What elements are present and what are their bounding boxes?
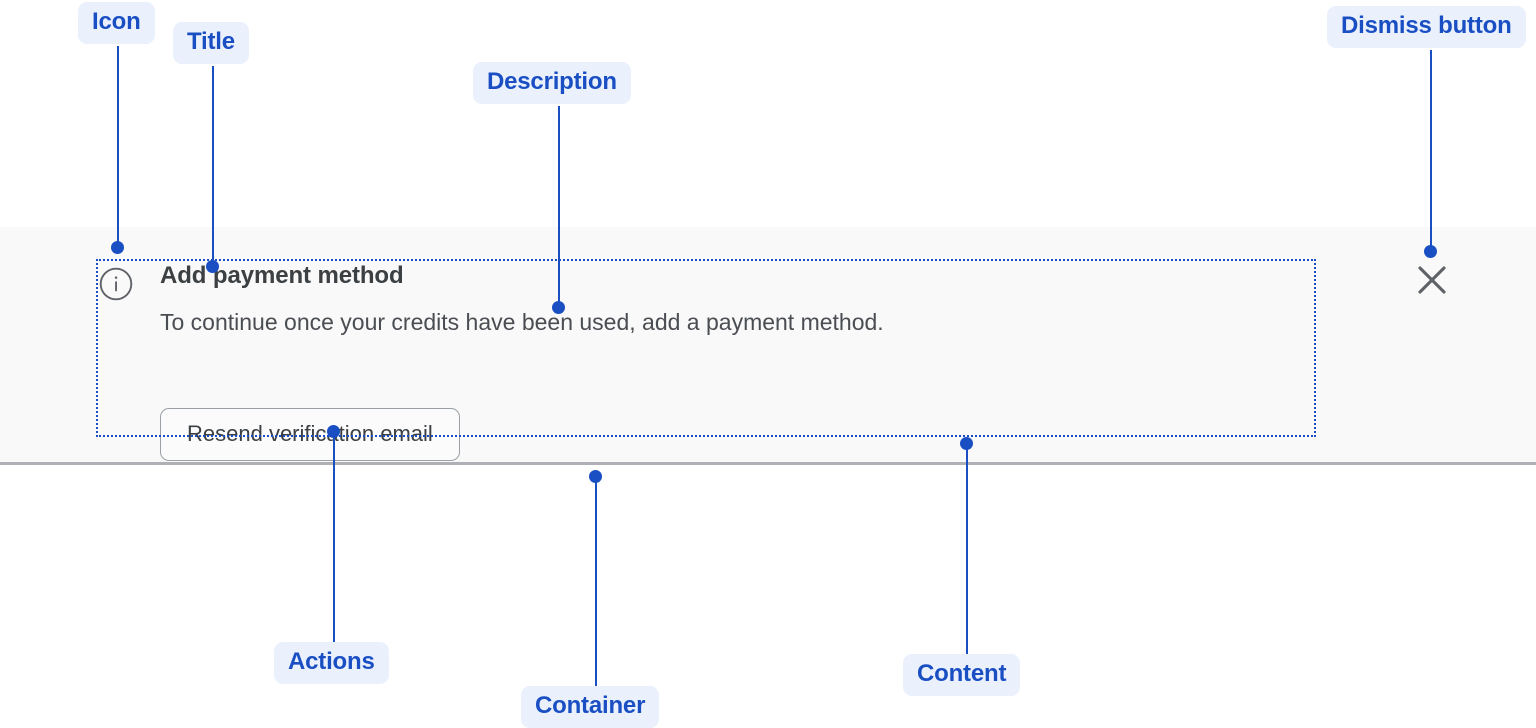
annotation-dot-content <box>960 437 973 450</box>
annotation-label-icon: Icon <box>78 2 155 44</box>
annotation-line-title <box>212 66 214 264</box>
annotation-label-dismiss-button: Dismiss button <box>1327 6 1526 48</box>
resend-verification-email-button[interactable]: Resend verification email <box>160 408 460 461</box>
info-circle-icon <box>99 267 133 301</box>
banner-title: Add payment method <box>160 258 1310 294</box>
annotation-dot-dismiss-button <box>1424 245 1437 258</box>
annotation-label-container: Container <box>521 686 659 728</box>
annotation-label-actions: Actions <box>274 642 389 684</box>
annotation-line-actions <box>333 436 335 642</box>
annotation-label-title: Title <box>173 22 249 64</box>
annotation-dot-icon <box>111 241 124 254</box>
banner-content: Add payment method To continue once your… <box>97 258 1316 435</box>
banner-actions: Resend verification email <box>160 408 460 461</box>
annotation-label-description: Description <box>473 62 631 104</box>
dismiss-button[interactable] <box>1412 260 1452 300</box>
annotation-line-icon <box>117 46 119 246</box>
banner-description: To continue once your credits have been … <box>160 305 1310 339</box>
annotation-label-content: Content <box>903 654 1020 696</box>
annotation-dot-description <box>552 301 565 314</box>
annotation-line-container <box>595 478 597 686</box>
notification-banner-container: Add payment method To continue once your… <box>0 227 1536 465</box>
annotation-dot-actions <box>327 425 340 438</box>
annotation-line-description <box>558 106 560 306</box>
close-icon <box>1412 260 1452 300</box>
annotation-line-content <box>966 444 968 654</box>
banner-text-block: Add payment method To continue once your… <box>160 258 1310 339</box>
annotation-dot-title <box>206 260 219 273</box>
annotation-line-dismiss-button <box>1430 50 1432 250</box>
annotation-dot-container <box>589 470 602 483</box>
